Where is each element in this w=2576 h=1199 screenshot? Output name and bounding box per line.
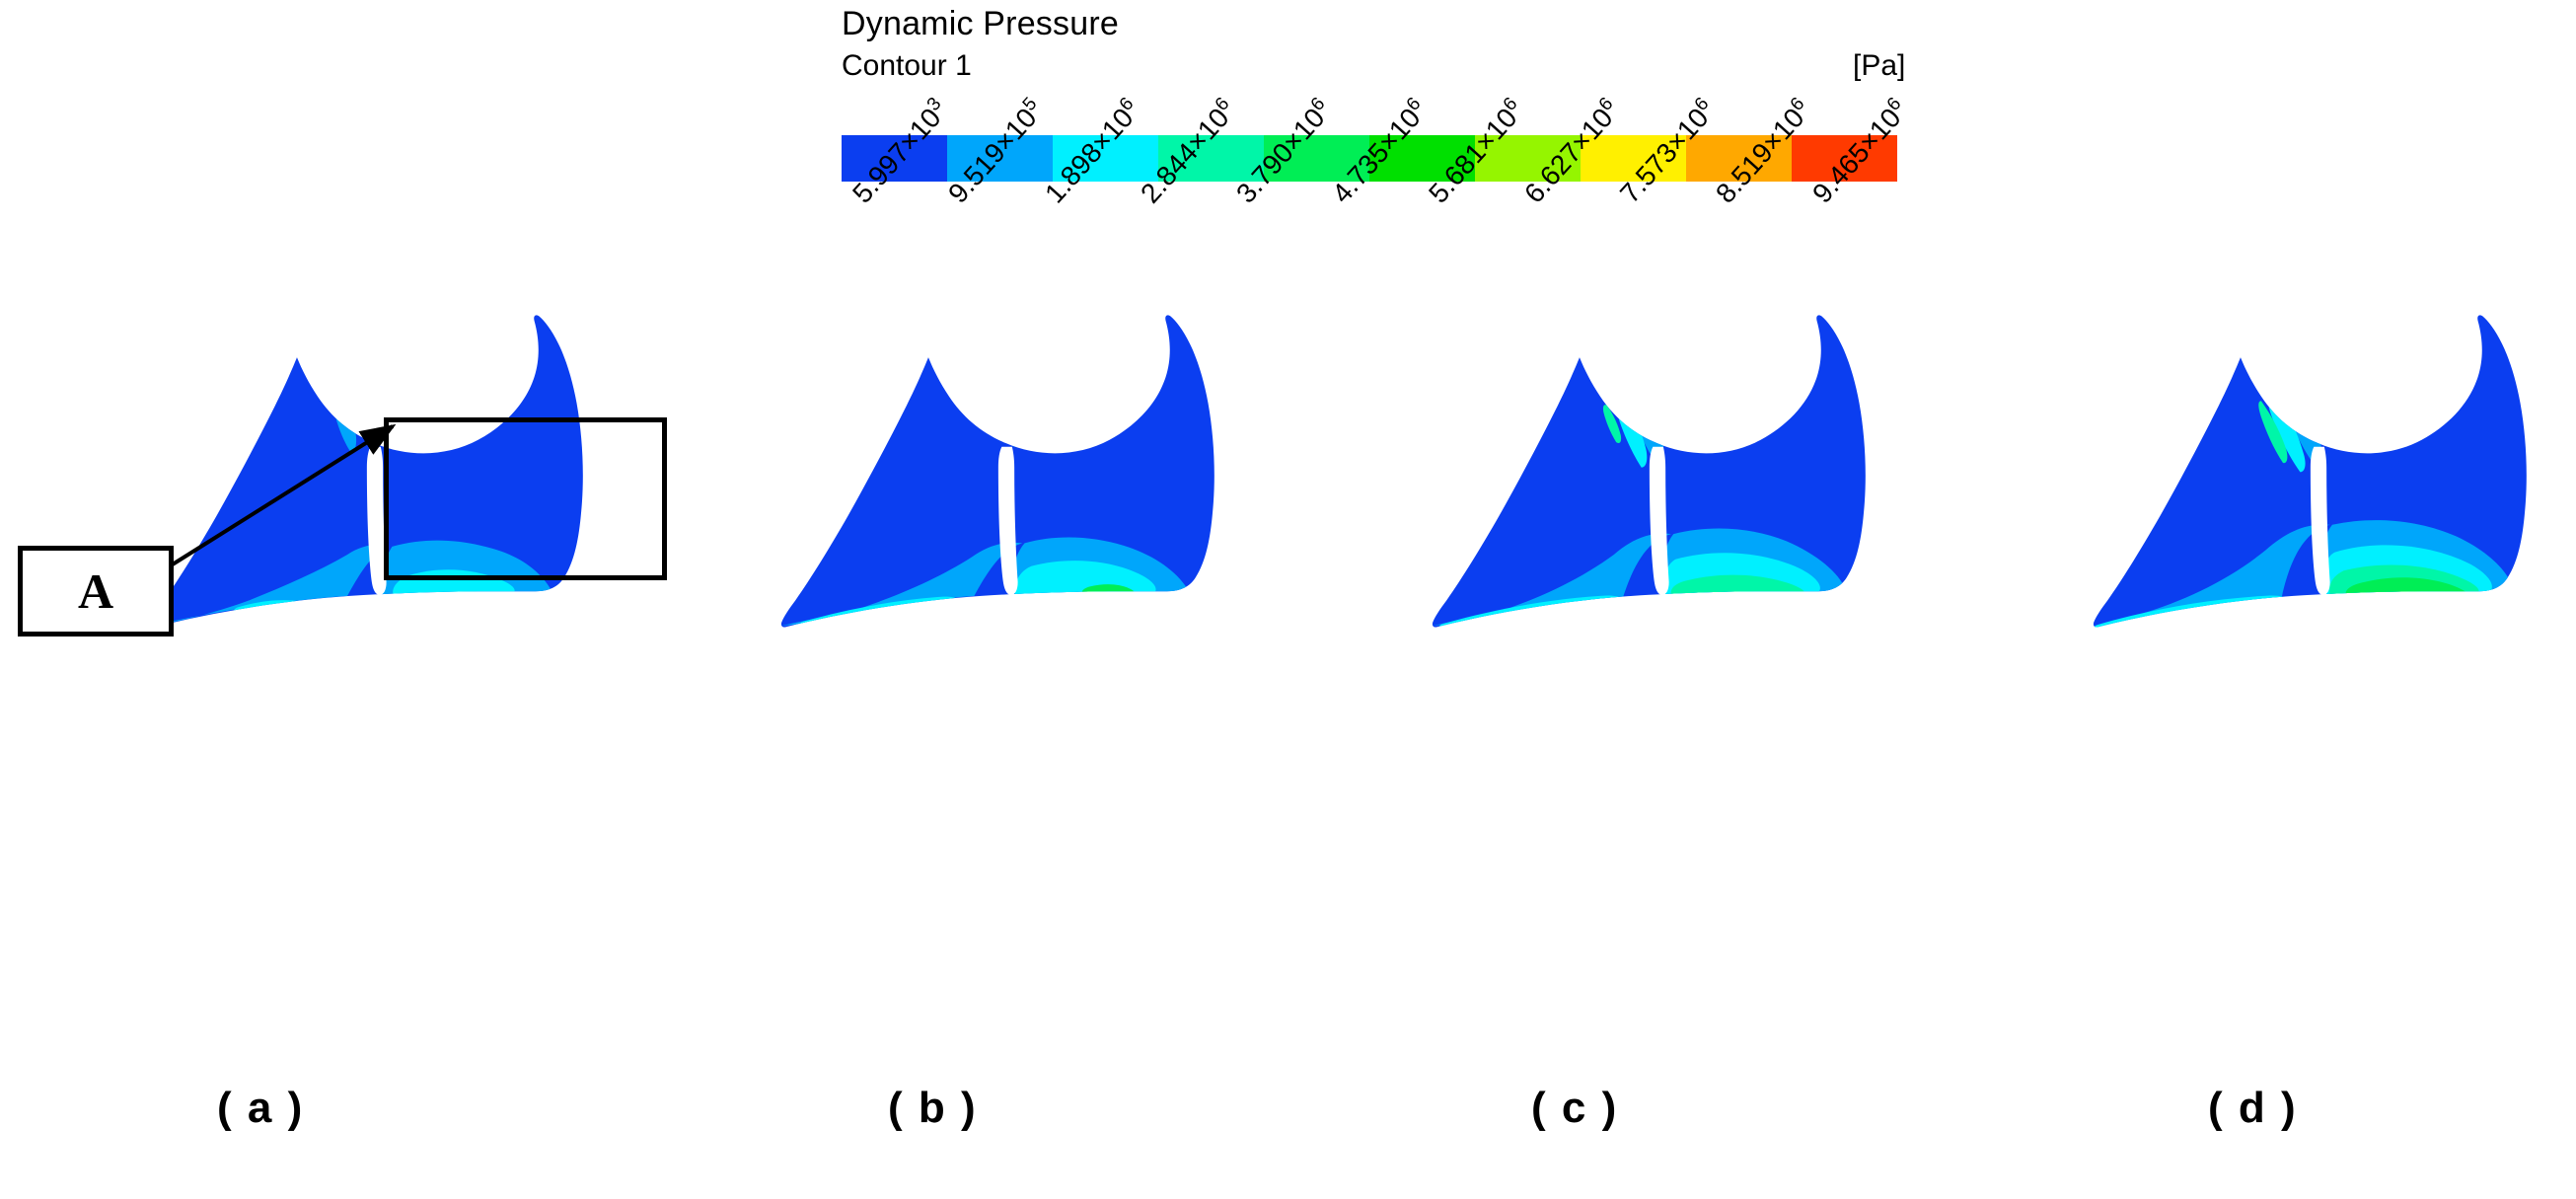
caption-d: ( d ) — [2208, 1084, 2298, 1133]
callout-arrow-icon — [158, 405, 414, 602]
callout-label-box: A — [18, 546, 174, 637]
contour-bands-d — [2090, 222, 2575, 646]
caption-a: ( a ) — [217, 1084, 304, 1133]
figure-root: Dynamic Pressure Contour 1 [Pa] 5.997×10… — [0, 0, 2576, 1199]
zoom-region-rectangle — [384, 417, 667, 580]
blade-surface-d — [2062, 222, 2575, 646]
callout-label-text: A — [23, 551, 169, 632]
legend-unit: [Pa] — [1853, 49, 1905, 83]
legend-title: Dynamic Pressure — [842, 5, 1119, 43]
caption-b: ( b ) — [888, 1084, 978, 1133]
contour-plot-b — [750, 222, 1263, 646]
contour-band-d-7 — [2188, 603, 2293, 625]
blade-surface-b — [750, 222, 1263, 646]
contour-band-b-5 — [987, 350, 1020, 447]
blade-surface-c — [1401, 222, 1914, 646]
contour-plot-c — [1401, 222, 1914, 646]
contour-bands-b — [777, 222, 1263, 646]
caption-c: ( c ) — [1531, 1084, 1618, 1133]
contour-plot-d — [2062, 222, 2575, 646]
contour-bands-c — [1429, 222, 1914, 646]
legend-subtitle: Contour 1 — [842, 49, 972, 83]
